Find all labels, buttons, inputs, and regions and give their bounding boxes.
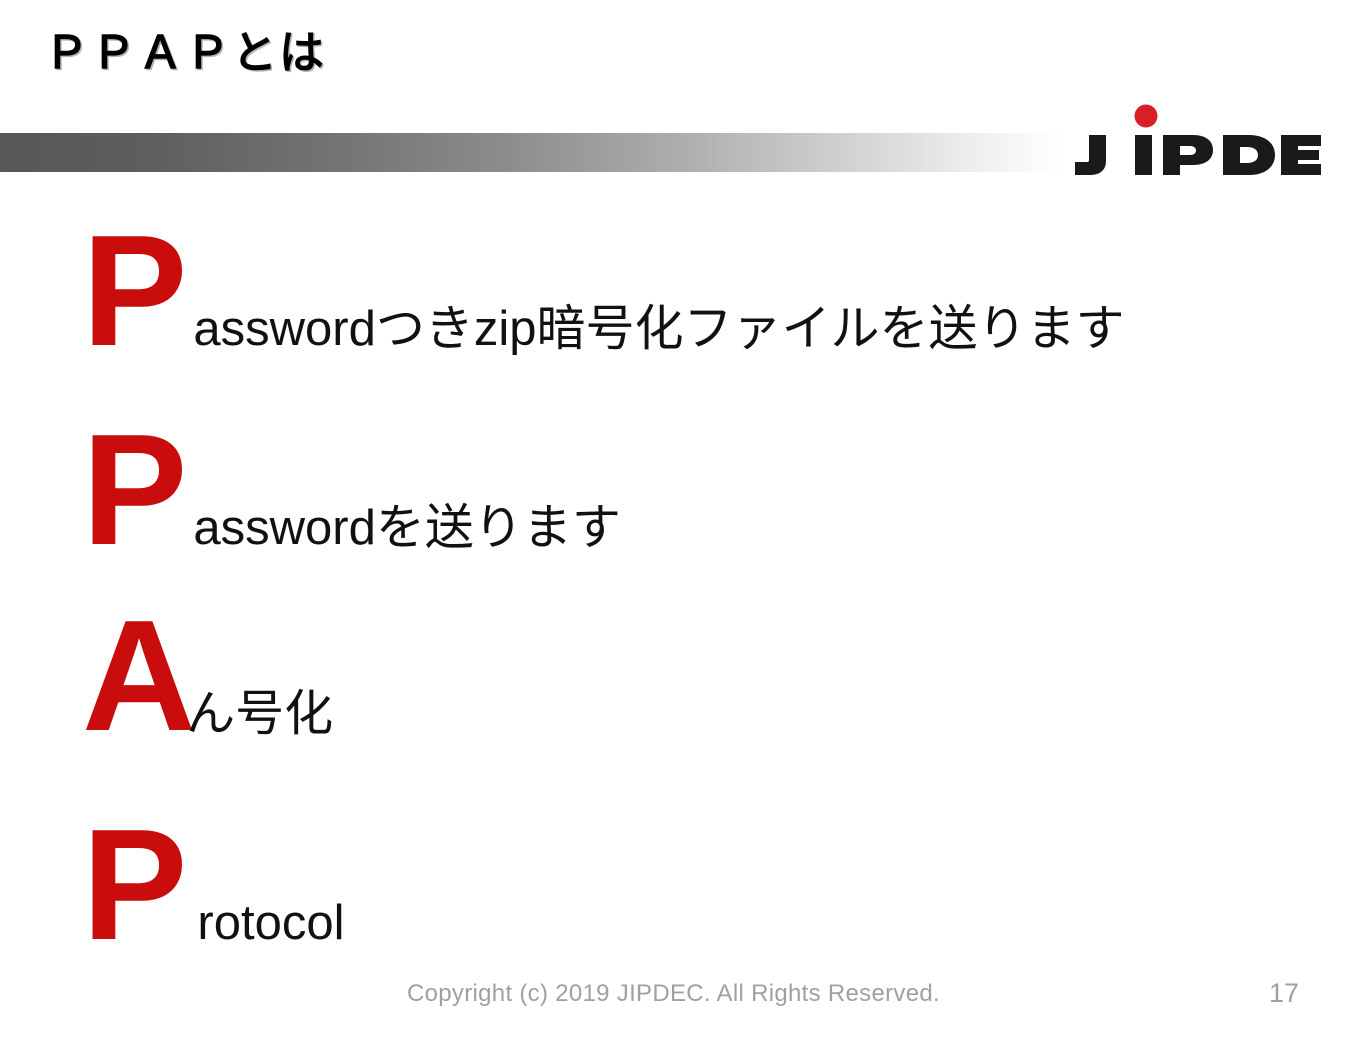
list-item: P asswordを送ります (82, 411, 621, 569)
list-item: P rotocol (82, 806, 344, 964)
acronym-description: ん号化 (186, 690, 333, 739)
acronym-initial-letter: P (82, 411, 187, 569)
jipdec-logo (1073, 101, 1323, 181)
logo-red-dot (1135, 105, 1158, 128)
acronym-description: rotocol (197, 899, 344, 948)
page-title: ＰＰＡＰとは (44, 28, 326, 78)
acronym-initial-letter: P (82, 806, 187, 964)
list-item: A ん号化 (82, 597, 333, 755)
acronym-initial-letter: A (82, 597, 190, 755)
acronym-description: asswordを送ります (193, 504, 620, 553)
slide: ＰＰＡＰとは (0, 0, 1347, 1059)
page-number: 17 (1269, 978, 1299, 1009)
footer-copyright: Copyright (c) 2019 JIPDEC. All Rights Re… (0, 980, 1347, 1008)
acronym-initial-letter: P (82, 212, 187, 370)
header-gradient-divider (0, 133, 1062, 172)
list-item: P asswordつきzip暗号化ファイルを送ります (82, 212, 1125, 370)
jipdec-logo-mark (1073, 101, 1323, 181)
acronym-description: asswordつきzip暗号化ファイルを送ります (193, 305, 1124, 354)
